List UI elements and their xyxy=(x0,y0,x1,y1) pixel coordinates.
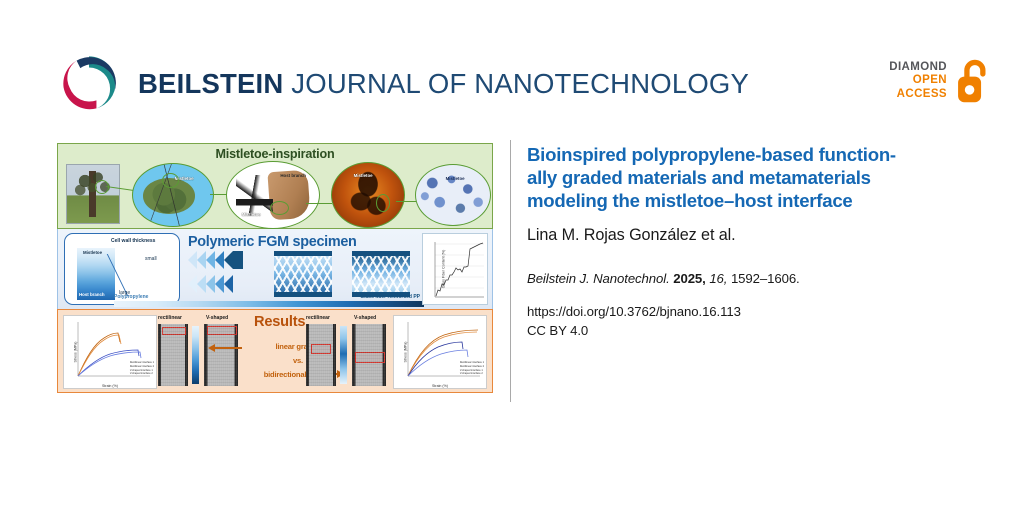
mistletoe-branch-illustration xyxy=(236,175,273,216)
panel-results: Results Stress (MPa) Strain (%) Rectilin… xyxy=(57,309,493,393)
roi-box xyxy=(207,326,237,335)
specimen-photo-vshaped-left xyxy=(204,324,238,386)
ellipse-label-mistletoe-4: Mistletoe xyxy=(446,176,465,181)
ellipse-label-host-branch: Host branch xyxy=(280,173,306,178)
inspiration-image-chain: Mistletoe Host branch Mistletoe Mistleto… xyxy=(58,161,492,229)
specimen-gradient-scale-left xyxy=(192,326,199,384)
legend-item: Rectilinear interface 2 xyxy=(460,365,484,369)
chevron-icon xyxy=(224,275,233,293)
article-title-line-2: ally graded materials and metamaterials xyxy=(527,167,871,188)
article-citation: Beilstein J. Nanotechnol. 2025, 16, 1592… xyxy=(527,271,977,286)
glass-fiber-chart-plot xyxy=(423,234,487,304)
roi-box xyxy=(162,327,186,335)
specimen-label-rectilinear-left: rectilinear xyxy=(158,315,182,321)
plot-legend-left: Rectilinear interface 1 Rectilinear inte… xyxy=(130,361,154,376)
zoom-ring-4 xyxy=(376,194,390,212)
specimen-photo-rectilinear-right xyxy=(306,324,336,386)
plot-ylabel-right: Stress (MPa) xyxy=(403,342,407,363)
article-metadata: Bioinspired polypropylene-based function… xyxy=(527,143,977,341)
zoom-ring-2 xyxy=(162,173,179,188)
chevron-icon xyxy=(206,275,215,293)
graphical-abstract[interactable]: Mistletoe-inspiration Mistletoe Host bra… xyxy=(57,143,493,393)
citation-volume: 16, xyxy=(709,271,727,286)
specimen-group-bidirectional-graded: rectilinear V-shaped xyxy=(306,315,392,389)
citation-journal: Beilstein J. Nanotechnol. xyxy=(527,271,670,286)
chevron-row-top xyxy=(188,251,243,269)
chevron-icon xyxy=(224,251,233,269)
oa-label-open: OPEN xyxy=(889,74,947,88)
oa-label-access: ACCESS xyxy=(889,88,947,102)
plot-legend-right: Rectilinear interface 1 Rectilinear inte… xyxy=(460,361,484,376)
journal-logo-block[interactable]: BEILSTEIN JOURNAL OF NANOTECHNOLOGY xyxy=(58,52,749,114)
cell-wall-label-host-branch: Host branch xyxy=(79,292,105,297)
article-license[interactable]: CC BY 4.0 xyxy=(527,322,977,341)
panel-mistletoe-inspiration: Mistletoe-inspiration Mistletoe Host bra… xyxy=(57,143,493,229)
article-title: Bioinspired polypropylene-based function… xyxy=(527,143,977,212)
lattice-cap-top-2 xyxy=(352,251,410,256)
article-title-line-3: modeling the mistletoe–host interface xyxy=(527,190,853,211)
panel-title-fgm: Polymeric FGM specimen xyxy=(188,234,357,250)
glass-fiber-content-chart: Glass Fiber Content (%) xyxy=(422,233,488,305)
panel-polymeric-fgm: Polymeric FGM specimen Cell wall thickne… xyxy=(57,229,493,309)
roi-box xyxy=(355,352,385,363)
citation-year: 2025, xyxy=(673,271,706,286)
chevron-icon xyxy=(188,275,197,293)
legend-item: Rectilinear interface 2 xyxy=(130,365,154,369)
cell-wall-label-small: small xyxy=(145,256,157,262)
cell-wall-title: Cell wall thickness xyxy=(111,238,155,244)
plot-curves-left xyxy=(64,316,156,388)
legend-item: V-shaped interface 2 xyxy=(130,372,154,376)
chevron-icon xyxy=(215,275,224,293)
fgm-specimen-graphics xyxy=(188,251,424,299)
lattice-specimen-rectilinear xyxy=(274,253,332,297)
lattice-cap-bottom xyxy=(274,292,332,297)
page-header: BEILSTEIN JOURNAL OF NANOTECHNOLOGY DIAM… xyxy=(0,0,1024,132)
specimen-group-linear-graded: rectilinear V-shaped xyxy=(158,315,244,389)
chevron-row-bottom xyxy=(188,275,233,293)
lattice-specimen-vshaped xyxy=(352,253,410,297)
mistletoe-host-branch-ellipse: Host branch Mistletoe xyxy=(226,161,320,229)
lattice-cap-top xyxy=(274,251,332,256)
chevron-icon xyxy=(206,251,215,269)
chevron-icon xyxy=(197,275,206,293)
arrow-left-icon xyxy=(214,347,242,349)
cell-micrograph-ellipse: Mistletoe xyxy=(415,164,491,226)
zoom-ring-3 xyxy=(270,201,289,215)
connector-3 xyxy=(306,203,332,204)
tree-photo xyxy=(66,164,120,224)
specimen-photo-rectilinear-left xyxy=(158,324,188,386)
beilstein-swirl-logo-icon xyxy=(58,52,120,114)
material-gradient-strip xyxy=(114,301,424,307)
diamond-open-access-badge[interactable]: DIAMOND OPEN ACCESS xyxy=(889,58,992,104)
connector-4 xyxy=(396,201,418,202)
panel-title-inspiration: Mistletoe-inspiration xyxy=(58,147,492,161)
ellipse-label-mistletoe-2: Mistletoe xyxy=(242,212,261,217)
journal-name-light: JOURNAL OF NANOTECHNOLOGY xyxy=(291,68,749,99)
gradient-label-glass-fiber-pp: Glass fiber reinforced PP xyxy=(360,294,420,300)
plot-curves-right xyxy=(394,316,486,388)
journal-wordmark: BEILSTEIN JOURNAL OF NANOTECHNOLOGY xyxy=(138,68,749,98)
article-title-line-1: Bioinspired polypropylene-based function… xyxy=(527,144,896,165)
chevron-icon xyxy=(197,251,206,269)
specimen-end-block xyxy=(233,251,243,269)
specimen-label-rectilinear-right: rectilinear xyxy=(306,315,330,321)
plot-xlabel-right: Strain (%) xyxy=(394,384,486,388)
specimen-photo-vshaped-right xyxy=(352,324,386,386)
roi-box xyxy=(311,344,331,354)
stress-strain-plot-right: Stress (MPa) Strain (%) Rectilinear inte… xyxy=(393,315,487,389)
open-access-unlocked-padlock-icon xyxy=(956,58,992,104)
cell-wall-label-mistletoe: Mistletoe xyxy=(83,250,102,255)
legend-item: V-shaped interface 2 xyxy=(460,372,484,376)
specimen-gradient-scale-right xyxy=(340,326,347,384)
journal-name-bold: BEILSTEIN xyxy=(138,68,283,99)
article-authors: Lina M. Rojas González et al. xyxy=(527,226,977,245)
microct-interface-ellipse: Mistletoe xyxy=(331,162,405,228)
chevron-icon xyxy=(188,251,197,269)
panel-title-results: Results xyxy=(254,314,305,330)
specimen-label-vshaped-right: V-shaped xyxy=(354,315,376,321)
stress-strain-plot-left: Stress (MPa) Strain (%) Rectilinear inte… xyxy=(63,315,157,389)
plot-xlabel-left: Strain (%) xyxy=(64,384,156,388)
chevron-icon xyxy=(215,251,224,269)
glass-fiber-chart-ylabel: Glass Fiber Content (%) xyxy=(441,250,445,289)
specimen-label-vshaped-left: V-shaped xyxy=(206,315,228,321)
citation-pages: 1592–1606. xyxy=(731,271,800,286)
oa-label-diamond: DIAMOND xyxy=(889,61,947,75)
gradient-label-polypropylene: Polypropylene xyxy=(114,294,148,300)
content-divider xyxy=(510,140,511,402)
ellipse-label-mistletoe-3: Mistletoe xyxy=(354,173,373,178)
open-access-text: DIAMOND OPEN ACCESS xyxy=(889,61,947,102)
plot-ylabel-left: Stress (MPa) xyxy=(73,342,77,363)
article-doi-link[interactable]: https://doi.org/10.3762/bjnano.16.113 xyxy=(527,303,977,322)
